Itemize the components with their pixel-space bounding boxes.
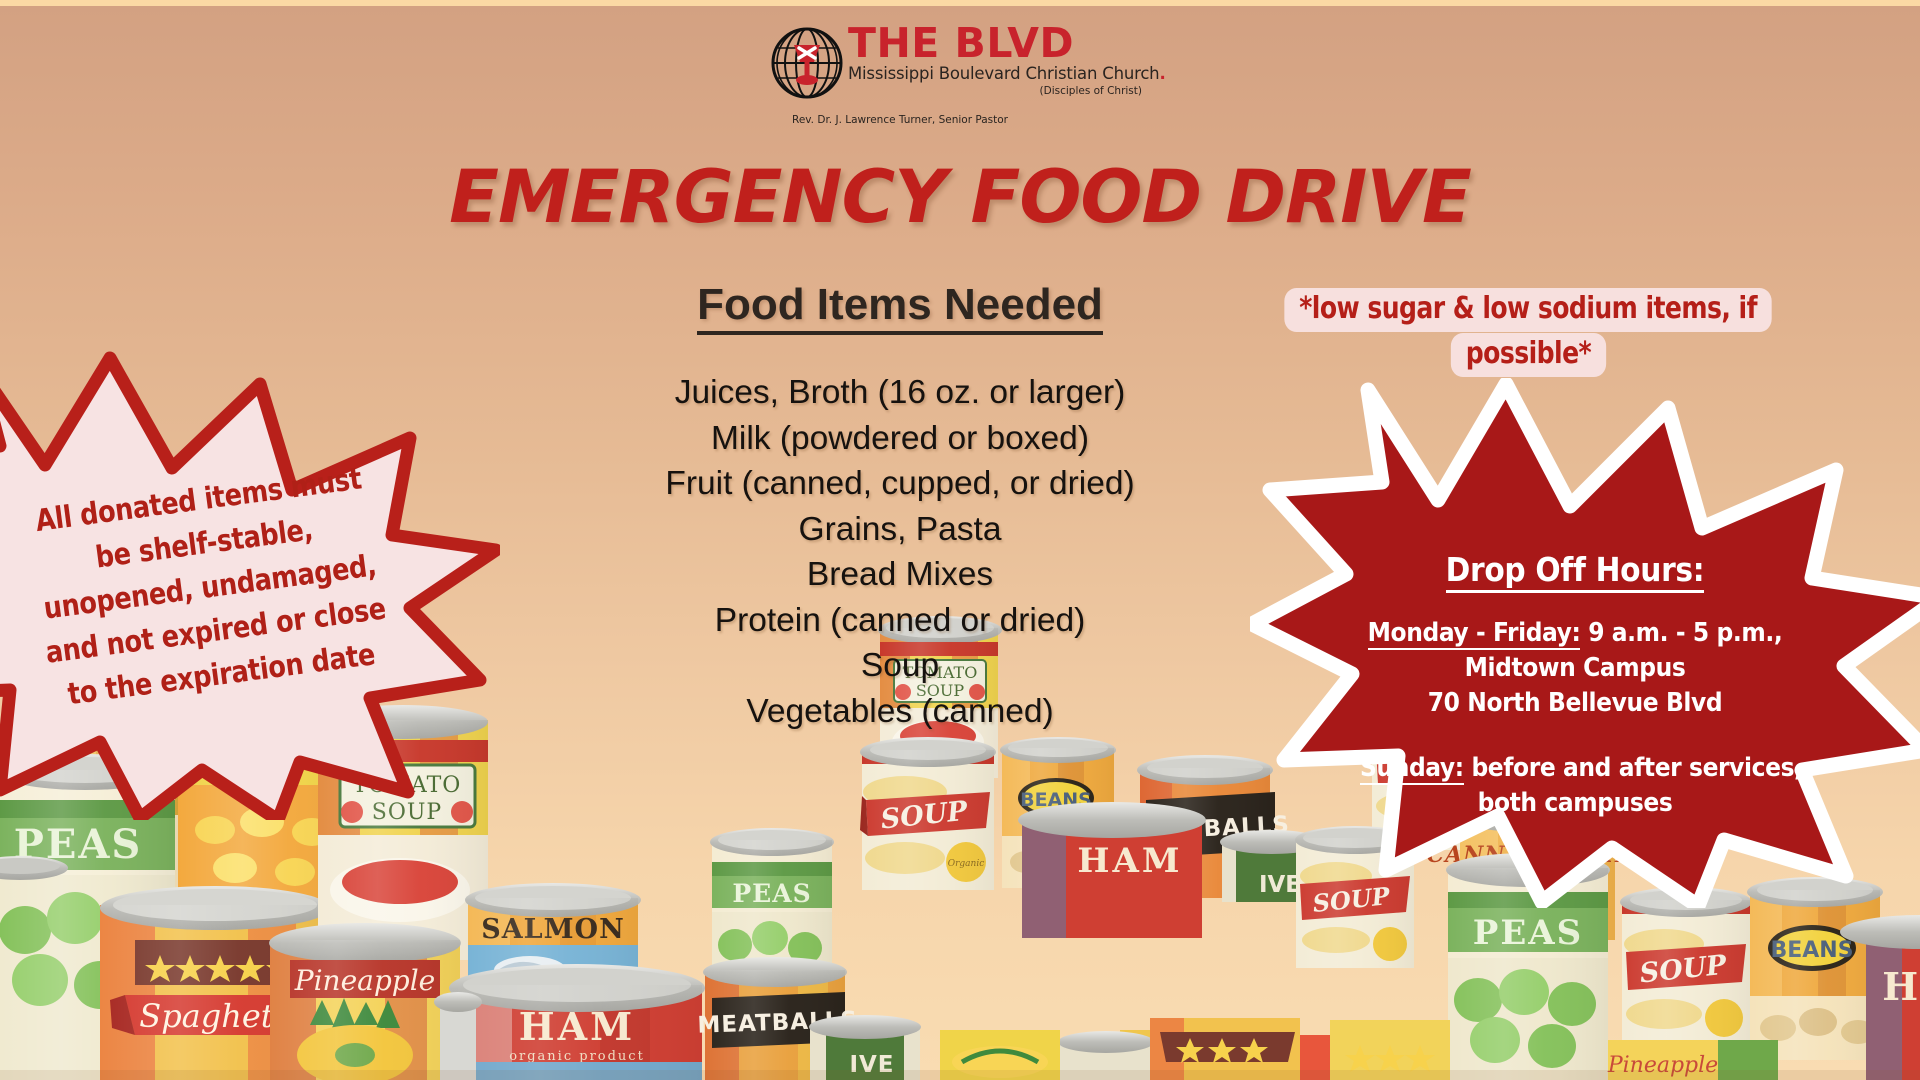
dropoff-title-text: Drop Off Hours: [1446,550,1705,593]
low-sugar-note-line: possible* [1450,333,1605,377]
can-peas-tower: PEAS [710,828,834,975]
church-logo: THE BLVD Mississippi Boulevard Christian… [770,22,1150,132]
food-items-heading: Food Items Needed [620,280,1180,330]
dropoff-text-block: Drop Off Hours: Monday - Friday: 9 a.m. … [1360,548,1790,821]
svg-text:HAM: HAM [1077,841,1182,881]
food-item: Protein (canned or dried) [560,598,1240,644]
shelf-shadow [0,1070,1920,1080]
logo-denomination: (Disciples of Christ) [848,84,1148,98]
page-title: EMERGENCY FOOD DRIVE [0,155,1920,240]
dropoff-weekday-campus: Midtown Campus [1360,651,1790,686]
dropoff-sunday-line: Sunday: before and after services, [1360,751,1790,786]
dropoff-spacer [1360,721,1790,751]
food-drive-poster: BEANS PEAS [0,0,1920,1080]
food-item: Bread Mixes [560,552,1240,598]
logo-church-name-text: Mississippi Boulevard Christian Church [848,64,1159,83]
dropoff-weekday-hours: 9 a.m. - 5 p.m., [1580,618,1782,648]
dropoff-title: Drop Off Hours: [1360,548,1790,592]
can-ham-right-of-center: HAM [1018,802,1206,938]
can-round-left-of-ham [434,992,482,1080]
food-item: Fruit (canned, cupped, or dried) [560,461,1240,507]
logo-church-dot: . [1159,64,1165,83]
svg-text:HA: HA [1882,964,1920,1009]
dropoff-body: Monday - Friday: 9 a.m. - 5 p.m., Midtow… [1360,616,1790,821]
logo-wordmark: THE BLVD Mississippi Boulevard Christian… [848,22,1148,98]
food-item: Juices, Broth (16 oz. or larger) [560,370,1240,416]
food-items-list: Juices, Broth (16 oz. or larger) Milk (p… [560,370,1240,734]
logo-title: THE BLVD [848,22,1148,64]
can-ham: HAM organic product [449,964,705,1080]
dropoff-sunday-label: Sunday: [1360,753,1464,785]
dropoff-sunday-text: before and after services, [1464,753,1803,783]
dropoff-weekday-label: Monday - Friday: [1368,618,1581,650]
low-sugar-note: *low sugar & low sodium items, if possib… [1258,288,1798,377]
can-soup-right-stack: SOUP [1620,887,1752,1065]
dropoff-sunday-campus: both campuses [1360,786,1790,821]
dropoff-weekday-line: Monday - Friday: 9 a.m. - 5 p.m., [1360,616,1790,651]
food-item: Soup [560,643,1240,689]
food-items-heading-text: Food Items Needed [697,280,1103,335]
food-item: Milk (powdered or boxed) [560,416,1240,462]
food-item: Grains, Pasta [560,507,1240,553]
can-soup-center: SOUP Organic [860,737,996,890]
food-item: Vegetables (canned) [560,689,1240,735]
logo-pastor-line: Rev. Dr. J. Lawrence Turner, Senior Past… [710,114,1090,126]
dropoff-weekday-address: 70 North Bellevue Blvd [1360,686,1790,721]
can-pineapple: Pineapple [269,923,461,1080]
globe-chalice-icon [770,26,844,100]
low-sugar-note-line: *low sugar & low sodium items, if [1284,288,1771,332]
logo-church-name: Mississippi Boulevard Christian Church. [848,64,1148,84]
